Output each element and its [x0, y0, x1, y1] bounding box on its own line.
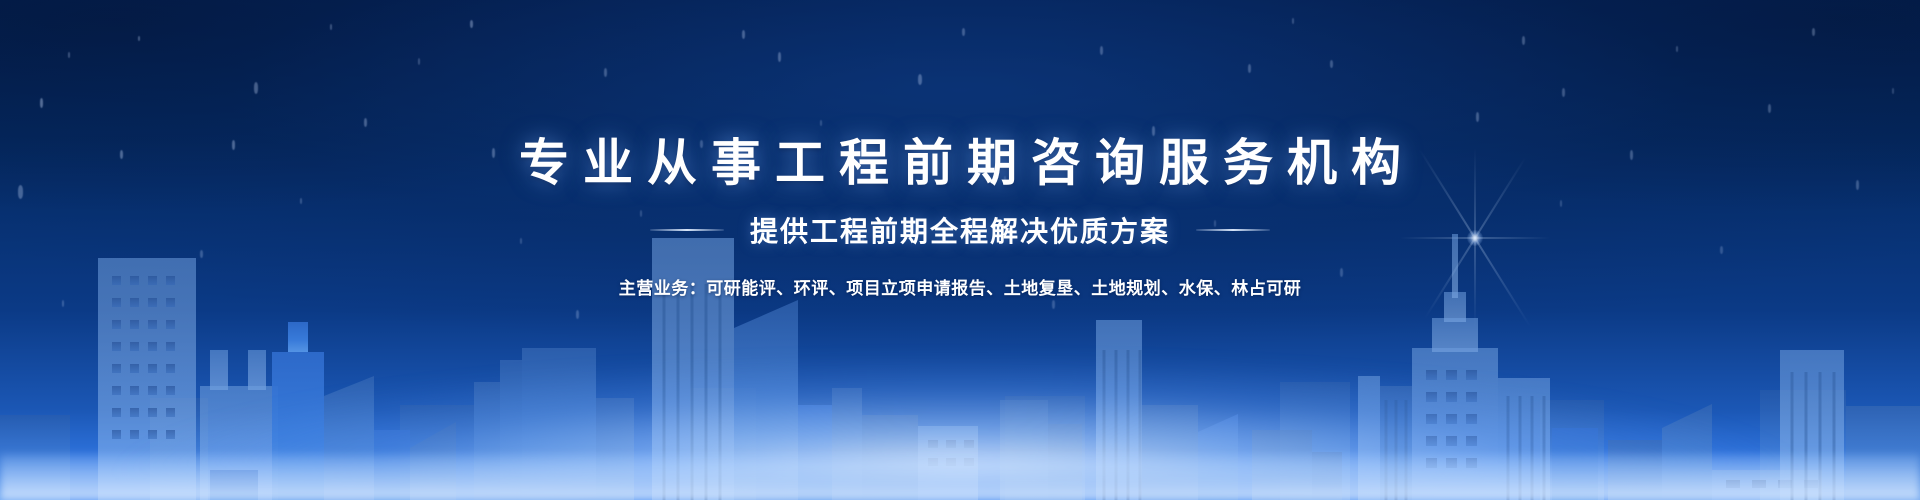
divider-line-left: [650, 229, 724, 231]
hero-banner: 专业从事工程前期咨询服务机构 提供工程前期全程解决优质方案 主营业务：可研能评、…: [0, 0, 1920, 500]
divider-line-right: [1196, 229, 1270, 231]
banner-headline: 专业从事工程前期咨询服务机构: [0, 0, 1920, 188]
ground-glow: [0, 454, 1920, 500]
subtitle-row: 提供工程前期全程解决优质方案: [0, 210, 1920, 250]
banner-services-line: 主营业务：可研能评、环评、项目立项申请报告、土地复垦、土地规划、水保、林占可研: [0, 274, 1920, 299]
banner-subtitle: 提供工程前期全程解决优质方案: [750, 210, 1170, 250]
banner-content: 专业从事工程前期咨询服务机构 提供工程前期全程解决优质方案 主营业务：可研能评、…: [0, 0, 1920, 299]
